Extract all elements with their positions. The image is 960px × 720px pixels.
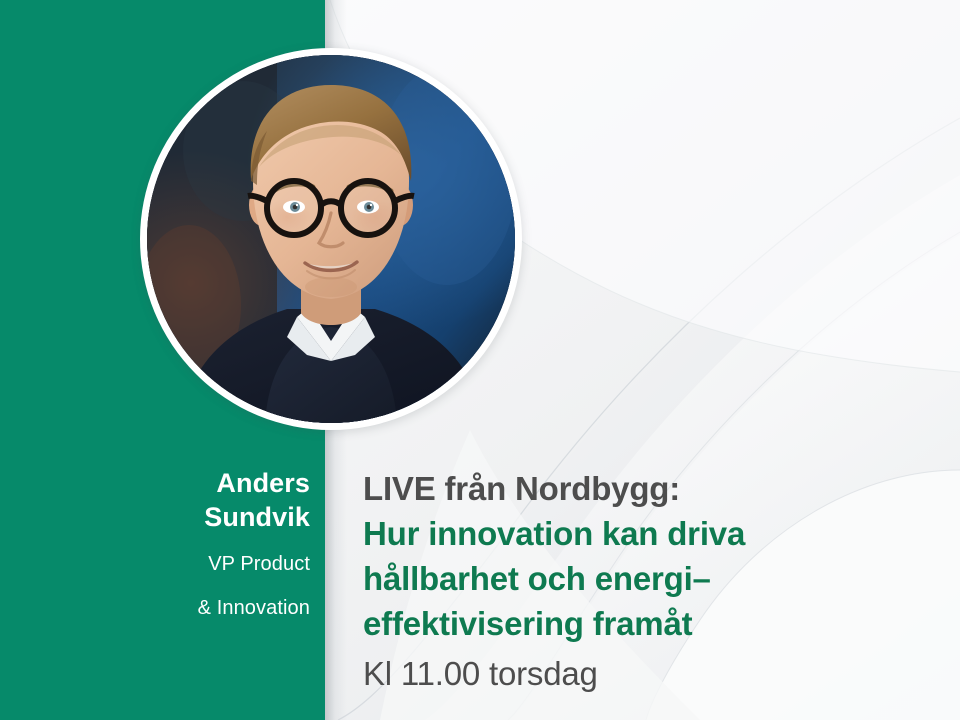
speaker-info-block: Anders Sundvik VP Product & Innovation: [0, 466, 310, 622]
portrait-illustration: [147, 55, 515, 423]
speaker-name-line2: Sundvik: [0, 500, 310, 534]
headline-accent-line2: hållbarhet och energi–: [363, 556, 938, 601]
speaker-portrait: [147, 55, 515, 423]
promo-poster: Anders Sundvik VP Product & Innovation: [0, 0, 960, 720]
headline-block: LIVE från Nordbygg: Hur innovation kan d…: [363, 466, 938, 696]
speaker-name-line1: Anders: [0, 466, 310, 500]
headline-accent-line3: effektivisering framåt: [363, 601, 938, 646]
headline-time: Kl 11.00 torsdag: [363, 651, 938, 696]
speaker-portrait-ring: [140, 48, 522, 430]
headline-accent-line1: Hur innovation kan driva: [363, 511, 938, 556]
speaker-role-line2: & Innovation: [0, 594, 310, 622]
speaker-role-line1: VP Product: [0, 550, 310, 578]
headline-kicker: LIVE från Nordbygg:: [363, 466, 938, 511]
